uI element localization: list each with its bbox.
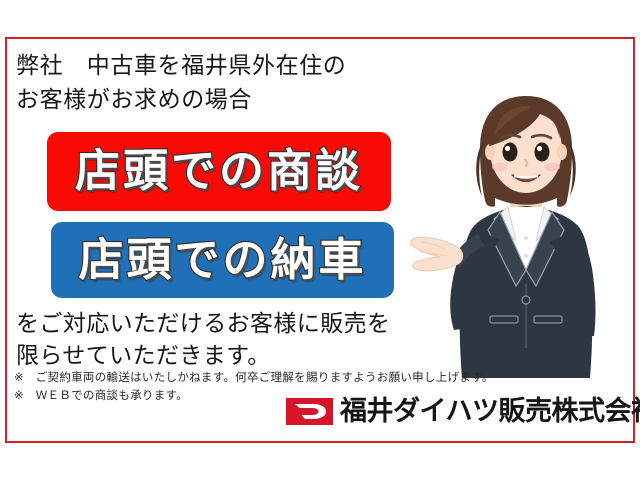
eye-highlight-left (505, 146, 510, 151)
blush-left (492, 163, 508, 172)
banner-store-delivery: 店頭での納車 (51, 222, 394, 298)
ear-left (485, 144, 495, 160)
company-signature: 福井ダイハツ販売株式会社 (286, 398, 640, 425)
eye-highlight-right (537, 146, 542, 151)
promotional-poster: 弊社 中古車を福井県外在住の お客様がお求めの場合 店頭での商談 店頭での納車 … (0, 0, 640, 480)
closing-text: をご対応いただけるお客様に販売を 限らせていただきます。 (16, 307, 456, 371)
eye-left (503, 143, 518, 162)
blouse-button-1 (524, 236, 528, 240)
blush-right (544, 163, 560, 172)
blouse-button-2 (524, 254, 528, 258)
daihatsu-d-mark-icon (286, 398, 333, 425)
company-name-text: 福井ダイハツ販売株式会社 (340, 398, 640, 425)
eye-right (535, 143, 550, 162)
banner-store-negotiation-label: 店頭での商談 (75, 148, 363, 193)
daihatsu-logo-icon (286, 398, 333, 425)
ear-right (557, 144, 567, 160)
banner-store-negotiation: 店頭での商談 (47, 132, 391, 211)
jacket-button (522, 296, 530, 304)
banner-store-delivery-label: 店頭での納車 (78, 237, 366, 282)
headline-text: 弊社 中古車を福井県外在住の お客様がお求めの場合 (16, 48, 436, 116)
